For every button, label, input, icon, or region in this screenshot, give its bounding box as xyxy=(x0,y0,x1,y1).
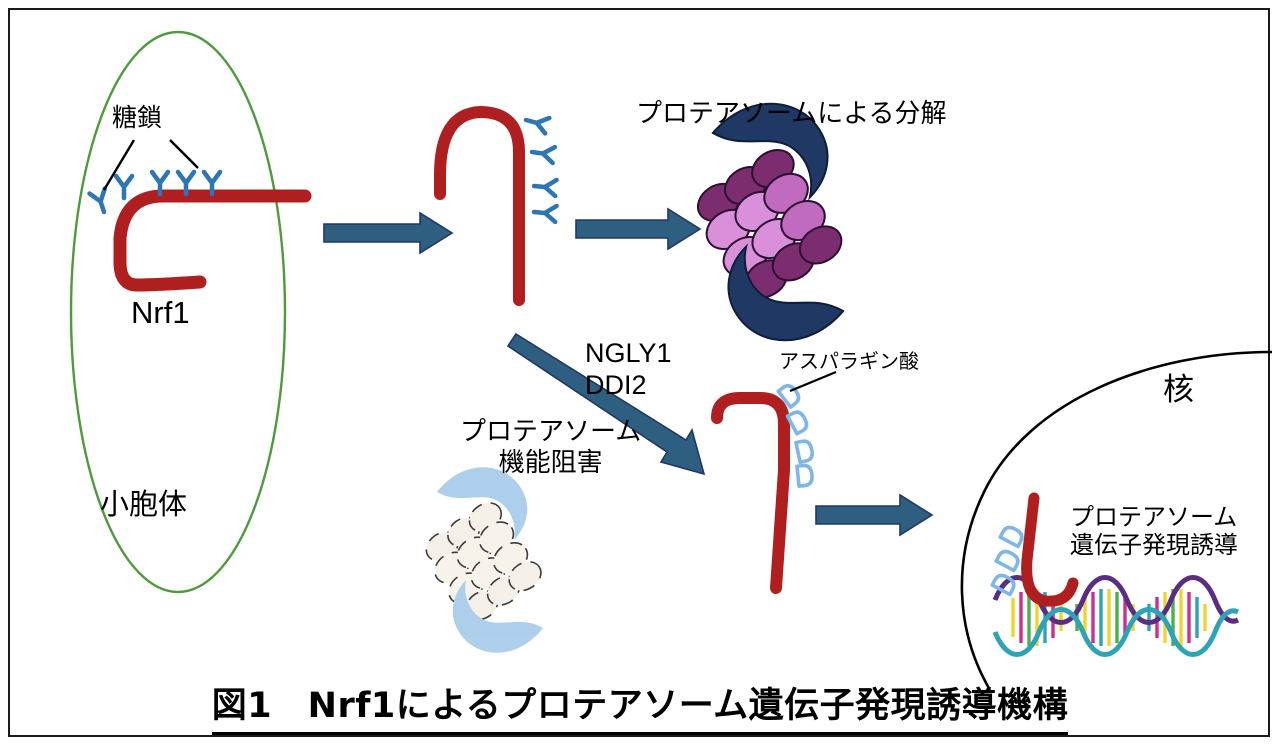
glycan-chain-group-flipped xyxy=(524,112,557,222)
nuclear-aspartate-group xyxy=(992,525,1024,595)
arrow-to-nucleus xyxy=(816,495,932,535)
er-label: 小胞体 xyxy=(100,487,187,521)
nrf1-protein-with-aspartate xyxy=(717,372,836,588)
nrf1-protein-flipped xyxy=(440,112,557,300)
inhibited-proteasome-barrel xyxy=(385,449,595,671)
inhibited-ring-group xyxy=(417,497,547,628)
proteasome-inhibition-label: プロテアソーム 機能阻害 xyxy=(460,417,641,478)
proteasome-degradation-label: プロテアソームによる分解 xyxy=(636,99,946,130)
nrf1-label: Nrf1 xyxy=(131,295,190,332)
aspartate-leader-line xyxy=(790,372,836,391)
enzyme-label: NGLY1 DDI2 xyxy=(585,338,672,402)
figure-caption: 図1 Nrf1によるプロテアソーム遺伝子発現誘導機構 xyxy=(0,677,1280,735)
figure-caption-text: 図1 Nrf1によるプロテアソーム遺伝子発現誘導機構 xyxy=(212,677,1068,735)
figure-container: 糖鎖 Nrf1 小胞体 プロテアソームによる分解 NGLY1 DDI2 プロテア… xyxy=(0,0,1280,747)
glycan-label: 糖鎖 xyxy=(112,103,162,133)
arrow-er-to-retrotranslocation xyxy=(324,213,452,253)
arrow-to-proteasome-degradation xyxy=(576,209,700,249)
nucleus-label: 核 xyxy=(1163,372,1194,409)
gene-induction-label: プロテアソーム 遺伝子発現誘導 xyxy=(1070,503,1238,560)
nrf1-protein-with-glycans xyxy=(90,140,305,285)
aspartate-label: アスパラギン酸 xyxy=(779,350,919,374)
